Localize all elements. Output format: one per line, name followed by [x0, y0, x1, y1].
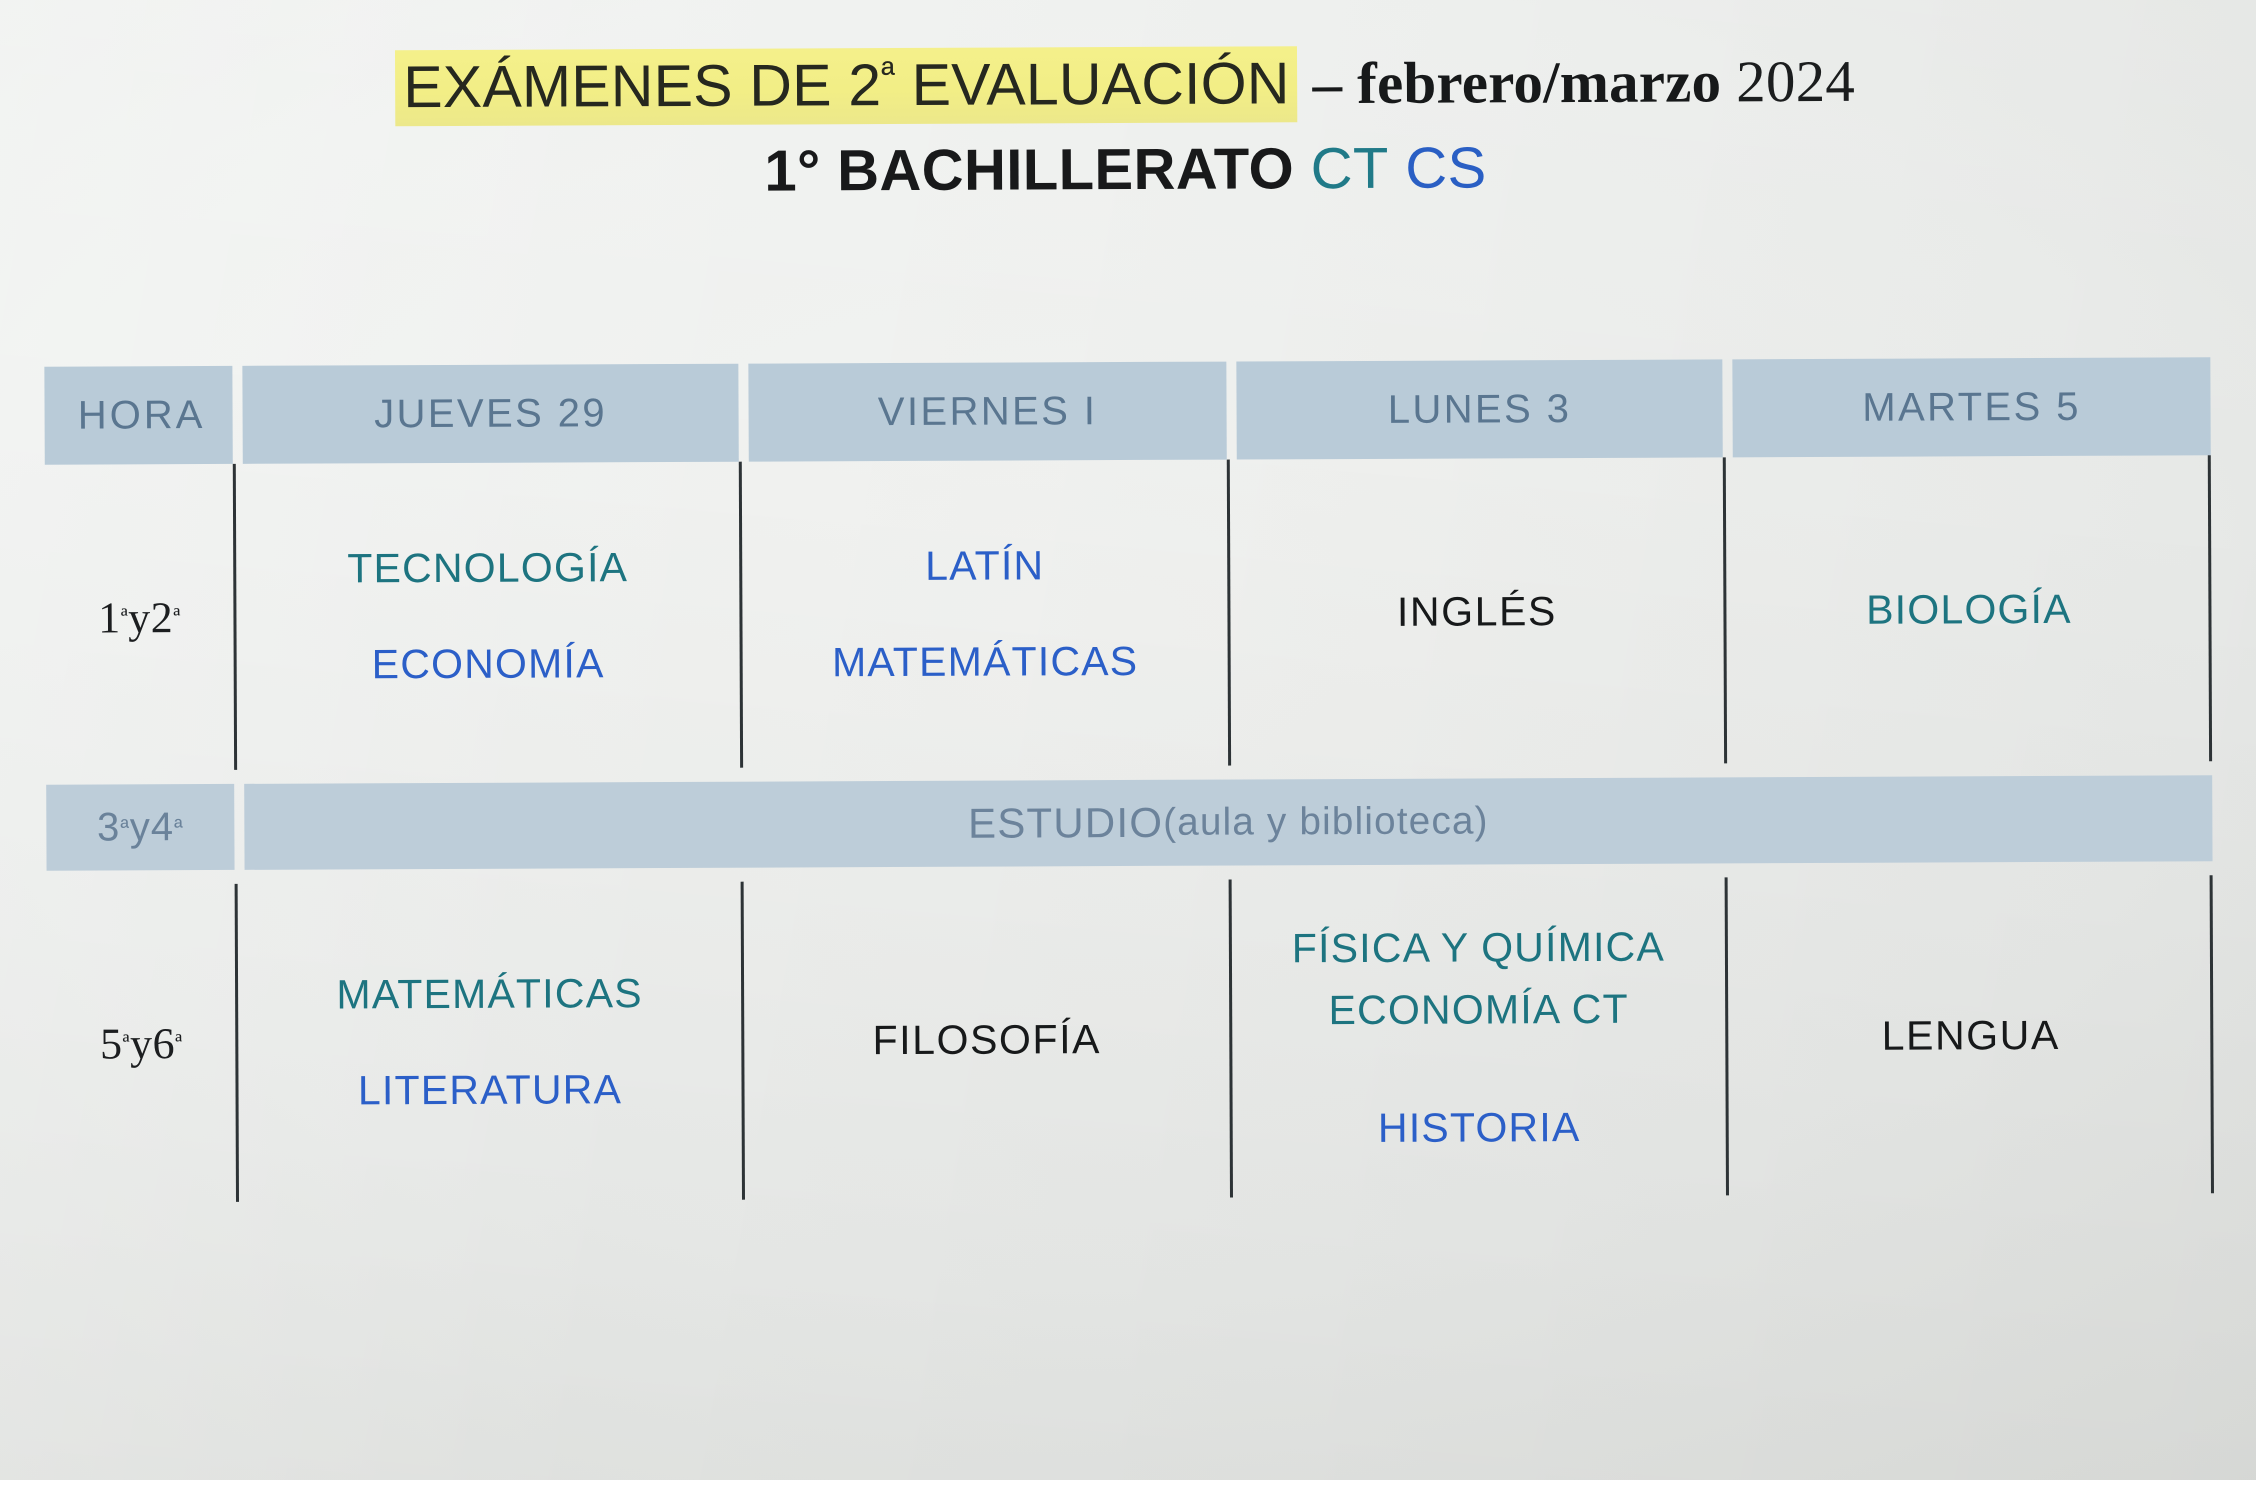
exam-cell-martes-5-6: LENGUA [1725, 875, 2214, 1195]
subject-tecnologia: TECNOLOGÍA [347, 536, 628, 600]
exam-schedule-table: HORA JUEVES 29 VIERNES I LUNES 3 MARTES … [44, 357, 2214, 1202]
page-title: EXÁMENES DE 2ª EVALUACIÓN – febrero/marz… [0, 47, 2253, 122]
table-right-edge [2210, 875, 2214, 1193]
hour-label-1-2: 1ª y 2ª [45, 464, 234, 771]
hour-sup-1: ª [121, 602, 129, 632]
title-block: EXÁMENES DE 2ª EVALUACIÓN – febrero/marz… [0, 47, 2254, 205]
subject-ingles: INGLÉS [1397, 580, 1557, 643]
exam-cell-jueves-5-6: MATEMÁTICAS LITERATURA [235, 882, 742, 1202]
hour-sup-2: ª [174, 814, 184, 841]
title-dash: – [1297, 50, 1357, 116]
exam-cell-viernes-1-2: LATÍN MATEMÁTICAS [739, 460, 1228, 768]
title-ordinal-sup: ª [881, 54, 895, 95]
subtitle-level: 1° BACHILLERATO [764, 136, 1294, 203]
hour-num-1: 5 [100, 1018, 123, 1069]
subject-fisica-y-quimica: FÍSICA Y QUÍMICA [1292, 915, 1665, 979]
subject-matematicas: MATEMÁTICAS [832, 630, 1139, 694]
column-header-lunes: LUNES 3 [1236, 359, 1722, 459]
subject-historia: HISTORIA [1378, 1096, 1581, 1159]
hour-num-1: 3 [97, 805, 120, 850]
table-header-row: HORA JUEVES 29 VIERNES I LUNES 3 MARTES … [44, 357, 2210, 464]
hour-num-2: 2 [151, 592, 174, 643]
page-subtitle: 1° BACHILLERATO CT CS [0, 134, 2254, 205]
column-header-jueves: JUEVES 29 [242, 364, 738, 464]
exam-cell-martes-1-2: BIOLOGÍA [1723, 455, 2212, 763]
title-highlighted-text: EXÁMENES DE 2ª EVALUACIÓN [395, 46, 1298, 126]
study-band-label: ESTUDIO (aula y biblioteca) [244, 775, 2212, 870]
exam-cell-jueves-1-2: TECNOLOGÍA ECONOMÍA [233, 462, 740, 770]
column-header-hora: HORA [44, 366, 232, 465]
hour-sup-1: ª [122, 1028, 130, 1058]
hour-num-2: 4 [151, 805, 174, 850]
table-row-hours-1-2: 1ª y 2ª TECNOLOGÍA ECONOMÍA LATÍN MATEMÁ… [45, 455, 2212, 770]
subtitle-track-cs: CS [1405, 135, 1487, 200]
subtitle-track-ct: CT [1310, 136, 1388, 201]
column-header-viernes: VIERNES I [748, 362, 1226, 462]
exam-cell-viernes-5-6: FILOSOFÍA [741, 880, 1230, 1200]
subject-economia: ECONOMÍA [372, 632, 605, 695]
subject-matematicas: MATEMÁTICAS [336, 962, 643, 1026]
table-row-hours-5-6: 5ª y 6ª MATEMÁTICAS LITERATURA FILOSOFÍA… [47, 875, 2214, 1202]
hour-sup-2: ª [173, 602, 181, 632]
subject-filosofia: FILOSOFÍA [872, 1008, 1101, 1071]
hour-conjunction: y [130, 1018, 153, 1069]
study-label: ESTUDIO [968, 799, 1163, 848]
band-gap [234, 784, 244, 870]
exam-cell-lunes-5-6: FÍSICA Y QUÍMICA ECONOMÍA CT HISTORIA [1229, 877, 1726, 1197]
table-row-study-band: 3ª y 4ª ESTUDIO (aula y biblioteca) [46, 775, 2212, 870]
header-gap [232, 366, 242, 464]
title-main-text: EXÁMENES DE 2 [403, 52, 881, 120]
subject-biologia: BIOLOGÍA [1866, 578, 2072, 641]
hour-sup-2: ª [175, 1028, 183, 1058]
title-year: 2024 [1721, 48, 1855, 115]
title-evaluation-text: EVALUACIÓN [895, 50, 1290, 118]
title-month: febrero/marzo [1357, 48, 1721, 116]
table-right-edge [2208, 455, 2212, 761]
header-gap [1226, 362, 1236, 460]
exam-schedule-sheet: EXÁMENES DE 2ª EVALUACIÓN – febrero/marz… [0, 0, 2256, 1485]
exam-cell-lunes-1-2: INGLÉS [1227, 457, 1724, 765]
subject-latin: LATÍN [925, 534, 1044, 597]
study-note: (aula y biblioteca) [1163, 799, 1489, 844]
hour-conjunction: y [130, 805, 151, 850]
subject-lengua: LENGUA [1882, 1004, 2060, 1067]
hour-num-1: 1 [98, 592, 121, 643]
hour-sup-1: ª [120, 814, 130, 841]
hour-label-5-6: 5ª y 6ª [47, 884, 236, 1203]
column-header-martes: MARTES 5 [1732, 357, 2210, 457]
hour-conjunction: y [128, 592, 151, 643]
subject-literatura: LITERATURA [358, 1058, 622, 1121]
subject-economia-ct: ECONOMÍA CT [1328, 978, 1629, 1042]
header-gap [1722, 359, 1732, 457]
hour-label-3-4: 3ª y 4ª [46, 784, 234, 871]
hour-num-2: 6 [152, 1018, 175, 1069]
header-gap [738, 364, 748, 462]
